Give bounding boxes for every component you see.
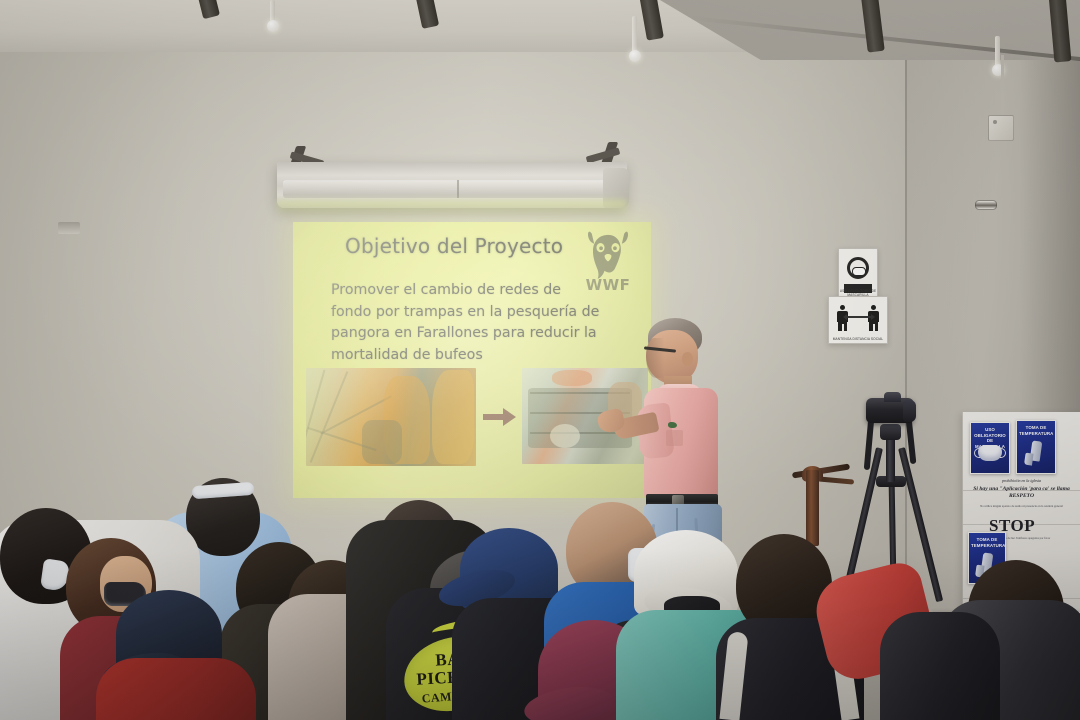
wall-sign-distancing: MANTENGA DISTANCIA SOCIAL: [828, 296, 888, 344]
poster-text-line-1: prohibición en la iglesia: [969, 478, 1074, 483]
blue-sign-temperature: TOMA DE TEMPERATURA: [1016, 420, 1056, 474]
wall-seam: [905, 0, 907, 660]
blue-sign-temp-line2: TEMPERATURA: [1019, 431, 1053, 436]
shirt-logo-icon: [668, 422, 677, 428]
wall-fixture: [58, 222, 80, 234]
camera-grip: [903, 400, 916, 422]
camera-viewfinder-hump: [884, 392, 901, 402]
blue-sign-temp2-line2: TEMPERATURA: [971, 543, 1005, 548]
thermometer-gun-icon: [1030, 440, 1043, 461]
poster-text-line-2: Si hay una "Aplicación 'para ca' se llam…: [969, 486, 1074, 500]
projected-slide: Objetivo del Proyecto WWF: [293, 222, 651, 498]
ceiling-light-rod: [270, 0, 275, 22]
blue-sign-mask: USO OBLIGATORIO DE MASCARILLA: [970, 422, 1010, 474]
blue-sign-temp-line1: TOMA DE: [1026, 425, 1047, 430]
tripod-head: [880, 424, 901, 440]
wall-conduit: [1001, 55, 1004, 117]
ceiling-light-bulb: [267, 20, 279, 32]
coat-rack-post: [806, 470, 819, 546]
transition-arrow-icon: [483, 408, 517, 426]
ceiling-light-rod: [995, 36, 1000, 66]
ceiling-light-bulb: [629, 50, 641, 62]
audience-person-black-plaid: [880, 612, 1000, 720]
presentation-photo-scene: Objetivo del Proyecto WWF: [0, 0, 1080, 720]
mask-icon: [978, 445, 1002, 461]
audience-person-red-shirt: [96, 658, 256, 720]
slide-body-text: Promover el cambio de redes de fondo por…: [331, 280, 601, 366]
blue-sign-mask-line2: OBLIGATORIO: [974, 433, 1006, 438]
poster-text-line-3: No utilice ningún aparato de audio ni pr…: [969, 504, 1074, 508]
slide-title: Objetivo del Proyecto: [345, 234, 577, 258]
blue-sign-mask-line1: USO: [985, 427, 995, 432]
distance-arrow-icon: [847, 316, 871, 318]
ceiling-light-rod: [632, 16, 637, 52]
electrical-box-icon: [988, 115, 1014, 141]
ac-light-glow: [277, 200, 627, 216]
wall-sign-mask: USO OBLIGATORIO DE MASCARILLA: [838, 248, 878, 300]
mask-icon: [847, 257, 869, 279]
wall-sign-distancing-caption: MANTENGA DISTANCIA SOCIAL: [829, 337, 887, 341]
presenter-ear: [682, 352, 693, 366]
blue-sign-temp2-line1: TOMA DE: [977, 537, 998, 542]
slide-photo-before: [306, 368, 476, 466]
smoke-detector-icon: [975, 200, 997, 210]
